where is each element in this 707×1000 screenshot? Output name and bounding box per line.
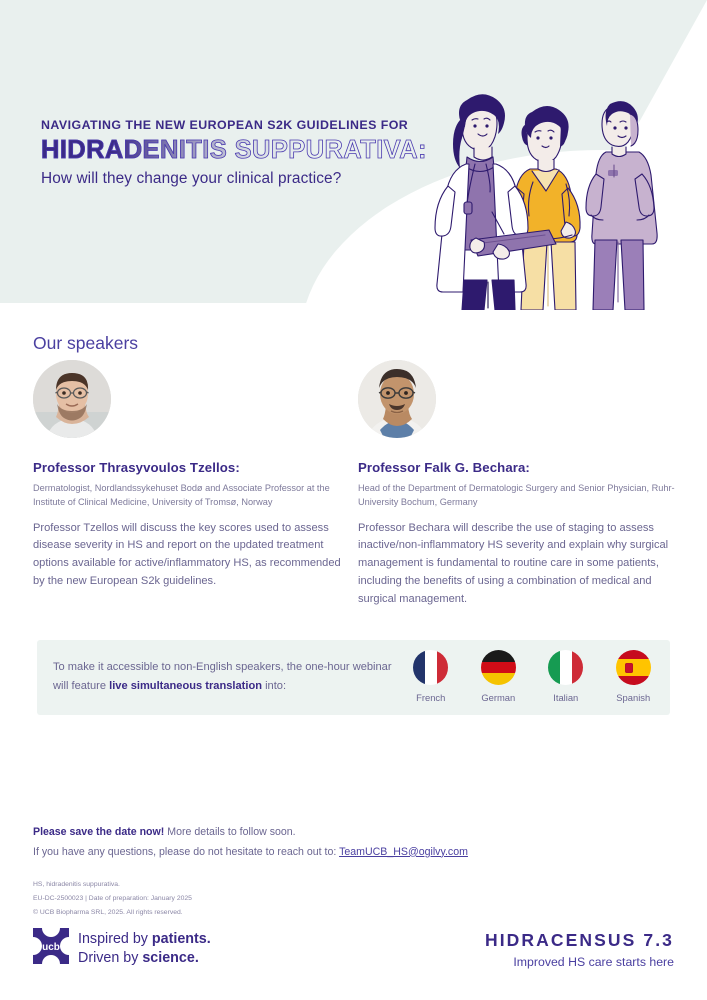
speaker-name: Professor Falk G. Bechara: bbox=[358, 460, 678, 475]
hero-title: HIDRADENITIS SUPPURATIVA: bbox=[41, 137, 441, 164]
contact-text: If you have any questions, please do not… bbox=[33, 846, 339, 858]
ucb-logo-block: ucb Inspired by patients. Driven by scie… bbox=[33, 928, 211, 969]
hero-kicker: NAVIGATING THE NEW EUROPEAN S2K GUIDELIN… bbox=[41, 118, 441, 134]
language-flags: French German Italian Spanish bbox=[397, 650, 667, 703]
flag-germany-icon bbox=[481, 650, 516, 685]
speaker-description: Professor Tzellos will discuss the key s… bbox=[33, 520, 353, 592]
flag-item-italian: Italian bbox=[538, 650, 594, 703]
ucb-logo: ucb bbox=[33, 928, 69, 969]
hidracensus-brand-block: HIDRACENSUS 7.3 Improved HS care starts … bbox=[485, 930, 674, 969]
flag-item-german: German bbox=[470, 650, 526, 703]
hero-headline: NAVIGATING THE NEW EUROPEAN S2K GUIDELIN… bbox=[41, 118, 441, 188]
three-healthcare-figures-illustration bbox=[420, 52, 690, 310]
flag-label: Italian bbox=[538, 692, 594, 703]
flag-label: Spanish bbox=[605, 692, 661, 703]
tagline-bold-2: science. bbox=[142, 950, 198, 966]
legal-line-3: © UCB Biopharma SRL, 2025. All rights re… bbox=[33, 906, 192, 920]
speaker-card-tzellos: Professor Thrasyvoulos Tzellos: Dermatol… bbox=[33, 360, 353, 591]
flag-france-icon bbox=[413, 650, 448, 685]
flag-label: French bbox=[403, 692, 459, 703]
flag-item-spanish: Spanish bbox=[605, 650, 661, 703]
legal-line-1: HS, hidradenitis suppurativa. bbox=[33, 878, 192, 892]
webinar-invitation-page: NAVIGATING THE NEW EUROPEAN S2K GUIDELIN… bbox=[0, 0, 707, 1000]
speaker-photo-tzellos bbox=[33, 360, 111, 438]
speakers-section-title: Our speakers bbox=[33, 333, 138, 354]
brand-subtitle: Improved HS care starts here bbox=[485, 955, 674, 969]
translation-text-after: into: bbox=[262, 680, 286, 692]
tagline-bold-1: patients. bbox=[152, 931, 211, 947]
legal-line-2: EU-DC-2500023 | Date of preparation: Jan… bbox=[33, 892, 192, 906]
ucb-tagline: Inspired by patients. Driven by science. bbox=[78, 930, 211, 967]
speaker-role: Head of the Department of Dermatologic S… bbox=[358, 481, 678, 510]
save-the-date-bold: Please save the date now! bbox=[33, 826, 164, 838]
speaker-name: Professor Thrasyvoulos Tzellos: bbox=[33, 460, 353, 475]
translation-text-highlight: live simultaneous translation bbox=[109, 680, 262, 692]
hero-subtitle: How will they change your clinical pract… bbox=[41, 170, 441, 188]
brand-name: HIDRACENSUS 7.3 bbox=[485, 930, 674, 951]
contact-line: If you have any questions, please do not… bbox=[33, 843, 468, 863]
tagline-light-2: Driven by bbox=[78, 950, 142, 966]
speaker-card-bechara: Professor Falk G. Bechara: Head of the D… bbox=[358, 360, 678, 609]
speaker-photo-bechara bbox=[358, 360, 436, 438]
spain-crest-icon bbox=[625, 663, 633, 673]
save-the-date-line: Please save the date now! More details t… bbox=[33, 823, 468, 843]
translation-text: To make it accessible to non-English spe… bbox=[53, 658, 398, 696]
flag-spain-icon bbox=[616, 650, 651, 685]
tagline-light-1: Inspired by bbox=[78, 931, 152, 947]
contact-email-link[interactable]: TeamUCB_HS@ogilvy.com bbox=[339, 846, 468, 858]
save-the-date-rest: More details to follow soon. bbox=[164, 826, 295, 838]
flag-item-french: French bbox=[403, 650, 459, 703]
legal-block: HS, hidradenitis suppurativa. EU-DC-2500… bbox=[33, 878, 192, 920]
svg-text:ucb: ucb bbox=[42, 942, 60, 953]
flag-italy-icon bbox=[548, 650, 583, 685]
save-the-date-block: Please save the date now! More details t… bbox=[33, 823, 468, 862]
hero-banner: NAVIGATING THE NEW EUROPEAN S2K GUIDELIN… bbox=[0, 0, 707, 310]
translation-panel: To make it accessible to non-English spe… bbox=[37, 640, 670, 715]
ucb-tagline-line-2: Driven by science. bbox=[78, 949, 211, 967]
flag-label: German bbox=[470, 692, 526, 703]
speaker-role: Dermatologist, Nordlandssykehuset Bodø a… bbox=[33, 481, 353, 510]
speaker-description: Professor Bechara will describe the use … bbox=[358, 520, 678, 610]
ucb-tagline-line-1: Inspired by patients. bbox=[78, 930, 211, 948]
